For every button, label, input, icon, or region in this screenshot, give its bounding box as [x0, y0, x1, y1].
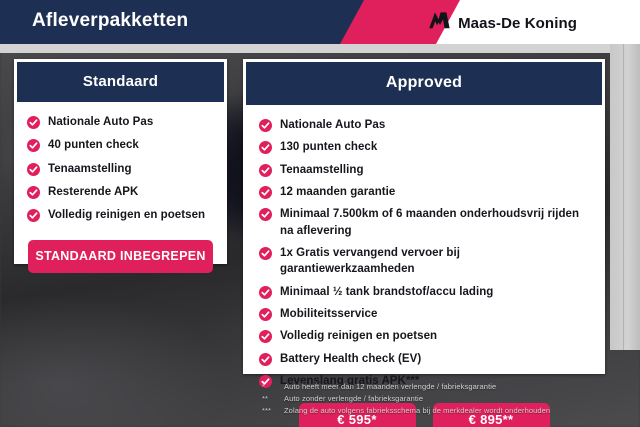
list-item: Tenaamstelling: [243, 162, 605, 178]
list-item: 130 punten check: [243, 139, 605, 155]
check-circle-icon: [27, 186, 40, 199]
feature-label: 1x Gratis vervangend vervoer bij garanti…: [280, 245, 595, 278]
list-item: Mobiliteitsservice: [243, 306, 605, 322]
feature-list-standaard: Nationale Auto Pas 40 punten check Tenaa…: [14, 102, 227, 224]
page-title: Afleverpakketten: [32, 10, 188, 32]
standaard-button-wrap: STANDAARD INBEGREPEN: [14, 231, 227, 273]
footnote-marker: *: [262, 381, 276, 393]
right-rail: [610, 44, 640, 350]
list-item: Battery Health check (EV): [243, 351, 605, 367]
check-circle-icon: [27, 163, 40, 176]
footnote-marker: ***: [262, 405, 276, 417]
check-circle-icon: [27, 139, 40, 152]
brand-name: Maas-De Koning: [458, 15, 577, 32]
right-rail-seam: [623, 44, 624, 350]
feature-label: Battery Health check (EV): [280, 351, 421, 367]
footnote-triple-asterisk: *** Zolang de auto volgens fabrieksschem…: [262, 405, 632, 417]
feature-label: 130 punten check: [280, 139, 377, 155]
check-circle-icon: [259, 247, 272, 260]
list-item: Tenaamstelling: [14, 161, 227, 177]
footnote-marker: **: [262, 393, 276, 405]
check-circle-icon: [259, 330, 272, 343]
maas-de-koning-m-logo-icon: [428, 11, 451, 35]
feature-label: Tenaamstelling: [280, 162, 364, 178]
banner-seam: [0, 44, 640, 53]
footnotes: * Auto heeft meer dan 12 maanden verleng…: [262, 381, 632, 417]
list-item: Minimaal ½ tank brandstof/accu lading: [243, 284, 605, 300]
feature-label: Mobiliteitsservice: [280, 306, 377, 322]
footnote-text: Zolang de auto volgens fabrieksschema bi…: [284, 405, 550, 417]
card-title-approved: Approved: [246, 62, 602, 105]
check-circle-icon: [259, 286, 272, 299]
feature-label: Resterende APK: [48, 184, 138, 200]
check-circle-icon: [27, 209, 40, 222]
footnote-single-asterisk: * Auto heeft meer dan 12 maanden verleng…: [262, 381, 632, 393]
brand-lockup: Maas-De Koning: [428, 11, 577, 35]
list-item: Volledig reinigen en poetsen: [14, 207, 227, 223]
package-card-approved: Approved Nationale Auto Pas 130 punten c…: [243, 59, 605, 374]
list-item: Minimaal 7.500km of 6 maanden onderhouds…: [243, 206, 605, 239]
check-circle-icon: [259, 208, 272, 221]
standaard-inbegrepen-button[interactable]: STANDAARD INBEGREPEN: [28, 240, 213, 273]
feature-label: Tenaamstelling: [48, 161, 132, 177]
feature-label: 40 punten check: [48, 137, 139, 153]
check-circle-icon: [259, 186, 272, 199]
top-banner: Afleverpakketten Maas-De Koning: [0, 0, 640, 44]
feature-label: Nationale Auto Pas: [280, 117, 385, 133]
check-circle-icon: [259, 141, 272, 154]
feature-label: 12 maanden garantie: [280, 184, 395, 200]
feature-list-approved: Nationale Auto Pas 130 punten check Tena…: [243, 105, 605, 389]
check-circle-icon: [259, 353, 272, 366]
list-item: Volledig reinigen en poetsen: [243, 328, 605, 344]
afleverpakketten-screen: Afleverpakketten Maas-De Koning Standaar…: [0, 0, 640, 427]
check-circle-icon: [259, 164, 272, 177]
footnote-text: Auto heeft meer dan 12 maanden verlengde…: [284, 381, 496, 393]
package-card-standaard: Standaard Nationale Auto Pas 40 punten c…: [14, 59, 227, 264]
footnote-double-asterisk: ** Auto zonder verlengde / fabrieksgaran…: [262, 393, 632, 405]
list-item: Resterende APK: [14, 184, 227, 200]
feature-label: Nationale Auto Pas: [48, 114, 153, 130]
feature-label: Volledig reinigen en poetsen: [280, 328, 437, 344]
list-item: 1x Gratis vervangend vervoer bij garanti…: [243, 245, 605, 278]
card-title-standaard: Standaard: [17, 62, 224, 102]
feature-label: Minimaal ½ tank brandstof/accu lading: [280, 284, 493, 300]
feature-label: Volledig reinigen en poetsen: [48, 207, 205, 223]
feature-label: Minimaal 7.500km of 6 maanden onderhouds…: [280, 206, 595, 239]
check-circle-icon: [259, 119, 272, 132]
list-item: Nationale Auto Pas: [243, 117, 605, 133]
check-circle-icon: [27, 116, 40, 129]
list-item: 40 punten check: [14, 137, 227, 153]
list-item: 12 maanden garantie: [243, 184, 605, 200]
footnote-text: Auto zonder verlengde / fabrieksgarantie: [284, 393, 423, 405]
check-circle-icon: [259, 308, 272, 321]
list-item: Nationale Auto Pas: [14, 114, 227, 130]
